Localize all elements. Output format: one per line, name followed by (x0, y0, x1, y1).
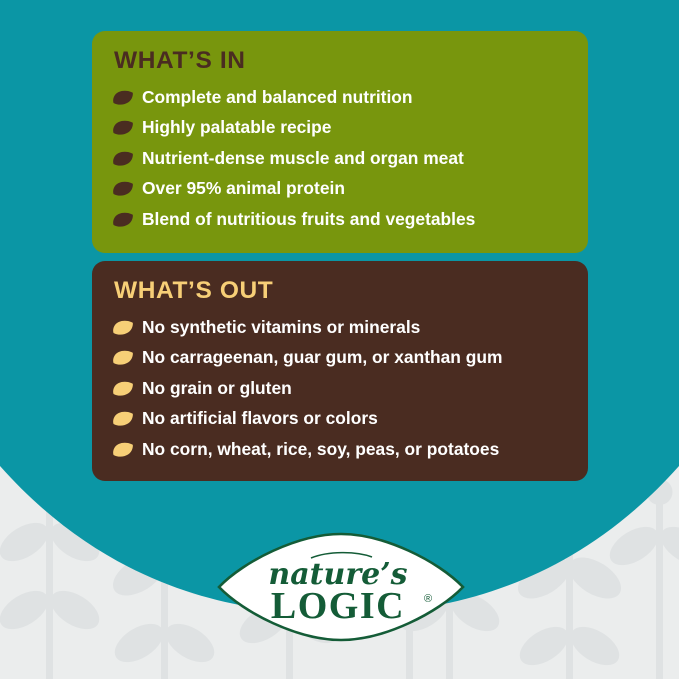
list-item-label: Blend of nutritious fruits and vegetable… (142, 209, 475, 230)
list-item-label: No artificial flavors or colors (142, 408, 378, 429)
leaf-icon (112, 87, 133, 108)
list-item-label: Over 95% animal protein (142, 178, 345, 199)
list-item-label: Complete and balanced nutrition (142, 87, 413, 108)
whats-out-list: No synthetic vitamins or minerals No car… (112, 315, 568, 462)
list-item: No corn, wheat, rice, soy, peas, or pota… (112, 437, 568, 462)
leaf-icon (112, 148, 133, 169)
leaf-icon (112, 117, 133, 138)
whats-in-list: Complete and balanced nutrition Highly p… (112, 85, 568, 232)
list-item: No synthetic vitamins or minerals (112, 315, 568, 340)
registered-trademark-icon: ® (424, 593, 432, 605)
list-item: No artificial flavors or colors (112, 406, 568, 431)
product-info-graphic: WHAT’S IN Complete and balanced nutritio… (0, 0, 679, 679)
leaf-icon (112, 378, 133, 399)
list-item-label: No grain or gluten (142, 378, 292, 399)
leaf-icon (112, 347, 133, 368)
whats-out-panel: WHAT’S OUT No synthetic vitamins or mine… (92, 261, 588, 481)
list-item: Nutrient-dense muscle and organ meat (112, 146, 568, 171)
list-item-label: No synthetic vitamins or minerals (142, 317, 420, 338)
list-item: Blend of nutritious fruits and vegetable… (112, 207, 568, 232)
list-item: Highly palatable recipe (112, 115, 568, 140)
natures-logic-logo: nature’s LOGIC ® (216, 528, 466, 646)
list-item: Over 95% animal protein (112, 176, 568, 201)
whats-out-title: WHAT’S OUT (114, 278, 568, 304)
list-item-label: No corn, wheat, rice, soy, peas, or pota… (142, 439, 499, 460)
leaf-icon (112, 408, 133, 429)
leaf-icon (112, 178, 133, 199)
list-item: Complete and balanced nutrition (112, 85, 568, 110)
list-item-label: Nutrient-dense muscle and organ meat (142, 148, 464, 169)
list-item-label: Highly palatable recipe (142, 117, 331, 138)
whats-in-panel: WHAT’S IN Complete and balanced nutritio… (92, 31, 588, 253)
leaf-icon (112, 439, 133, 460)
logo-wordmark-text: LOGIC (271, 585, 405, 627)
leaf-icon (112, 317, 133, 338)
list-item-label: No carrageenan, guar gum, or xanthan gum (142, 347, 502, 368)
list-item: No grain or gluten (112, 376, 568, 401)
leaf-icon (112, 209, 133, 230)
logo-svg: nature’s LOGIC ® (216, 528, 466, 646)
whats-in-title: WHAT’S IN (114, 48, 568, 74)
list-item: No carrageenan, guar gum, or xanthan gum (112, 345, 568, 370)
